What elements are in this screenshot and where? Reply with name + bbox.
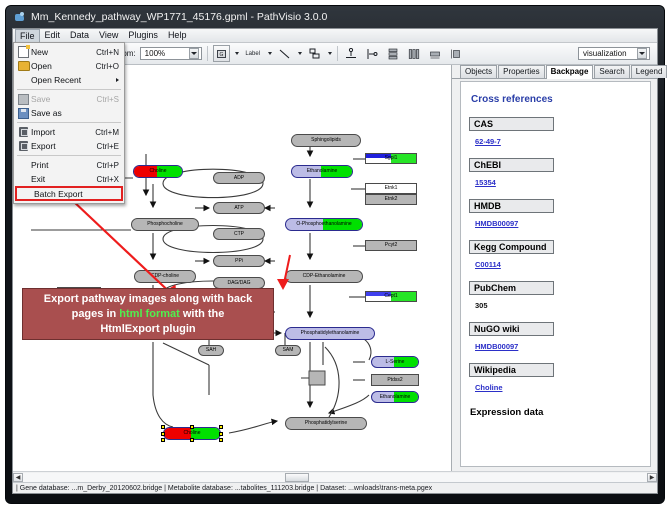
menu-separator (17, 89, 121, 90)
pathway-node[interactable]: SAH (198, 345, 224, 356)
gene-label: Sgpl1 (385, 156, 398, 161)
xref-value-row: Choline (469, 377, 650, 395)
callout-line1: Export pathway images along with back (44, 293, 252, 305)
title-bar[interactable]: Mm_Kennedy_pathway_WP1771_45176.gpml - P… (8, 8, 662, 26)
window-title: Mm_Kennedy_pathway_WP1771_45176.gpml - P… (31, 11, 327, 23)
xref-db-header: ChEBI (469, 158, 554, 172)
menu-item-accelerator: Ctrl+O (96, 62, 124, 71)
tab-objects[interactable]: Objects (460, 65, 497, 78)
xref-value-row: C00114 (469, 254, 650, 272)
menu-item-no-icon (16, 74, 31, 86)
xref-db-header: PubChem (469, 281, 554, 295)
xref-link[interactable]: Choline (475, 383, 503, 392)
shape-button[interactable] (306, 45, 323, 62)
callout-line2-pre: pages in (72, 308, 120, 320)
cross-reference-list: CAS62-49-7ChEBI15354HMDBHMDB00097Kegg Co… (469, 117, 650, 395)
datanode-button[interactable]: G (213, 45, 230, 62)
xref-value-row: 15354 (469, 172, 650, 190)
scroll-left-icon[interactable]: ◀ (13, 473, 23, 482)
submenu-arrow-icon (116, 78, 119, 82)
pathway-node[interactable]: Sphingolipids (291, 134, 361, 147)
pathway-node[interactable]: O-Phosphoethanolamine (285, 218, 363, 231)
menu-item-label: New (31, 47, 96, 57)
pathway-gene-box[interactable]: Pcyt2 (365, 240, 417, 251)
tab-properties[interactable]: Properties (498, 65, 544, 78)
xref-value-row: 62-49-7 (469, 131, 650, 149)
same-height-button[interactable] (448, 45, 465, 62)
pathway-node[interactable]: L-Serine (371, 356, 419, 368)
menu-item-export[interactable]: ExportCtrl+E (14, 139, 124, 153)
svg-text:G: G (219, 52, 223, 58)
menu-item-batch-export[interactable]: Batch Export (15, 186, 123, 201)
pathway-node[interactable]: Phosphocholine (131, 218, 199, 231)
pathway-gene-box[interactable]: Cept1 (365, 291, 417, 302)
pathway-node[interactable]: CTP (213, 228, 265, 240)
menu-item-label: Batch Export (34, 189, 116, 199)
shape-dropdown-icon[interactable] (328, 52, 332, 55)
menu-item-accelerator: Ctrl+N (96, 48, 124, 57)
line-dropdown-icon[interactable] (298, 52, 302, 55)
pathway-gene-box[interactable]: Etnk1 (365, 183, 417, 194)
distribute-button[interactable] (406, 45, 423, 62)
node-label: L-Serine (386, 360, 405, 365)
pathway-node[interactable]: CDP-Ethanolamine (285, 270, 363, 283)
xref-link[interactable]: 62-49-7 (475, 137, 501, 146)
xref-db-header: HMDB (469, 199, 554, 213)
menu-item-label: Open Recent (31, 75, 119, 85)
align-left-button[interactable] (364, 45, 381, 62)
pathway-node[interactable]: Ethanolamine (371, 391, 419, 403)
selection-handle[interactable] (190, 425, 194, 429)
pathway-node[interactable]: Ethanolamine (291, 165, 353, 178)
pathway-node[interactable]: ATP (213, 202, 265, 214)
gene-label: Cept1 (384, 294, 397, 299)
zoom-value: 100% (145, 49, 165, 58)
export-icon (16, 140, 31, 152)
pathway-node[interactable]: Choline (133, 165, 183, 178)
xref-db-header: Kegg Compound (469, 240, 554, 254)
align-top-button[interactable] (343, 45, 360, 62)
callout-line3: HtmlExport plugin (100, 323, 195, 335)
tab-search[interactable]: Search (594, 65, 629, 78)
menu-item-accelerator: Ctrl+P (97, 161, 124, 170)
status-text: | Gene database: ...m_Derby_20120602.bri… (16, 485, 432, 492)
xref-link[interactable]: HMDB00097 (475, 342, 518, 351)
menu-item-label: Export (31, 141, 97, 151)
pathway-node[interactable]: PPi (213, 255, 265, 267)
label-button[interactable]: Label (243, 45, 263, 62)
menu-separator (17, 122, 121, 123)
menu-edit[interactable]: Edit (40, 29, 66, 42)
callout-line2-highlight: html format (119, 308, 180, 320)
new-file-icon (16, 46, 31, 58)
node-label: DAG/DAG (227, 281, 250, 286)
status-bar: | Gene database: ...m_Derby_20120602.bri… (13, 482, 657, 493)
gene-label: Pcyt2 (385, 243, 398, 248)
save-as-icon (16, 107, 31, 119)
chevron-down-icon (189, 48, 199, 59)
xref-link[interactable]: 15354 (475, 178, 496, 187)
node-label: CTP (234, 232, 244, 237)
node-label: SAM (283, 348, 294, 353)
menu-item-label: Import (31, 127, 95, 137)
node-label: Phosphocholine (147, 222, 183, 227)
node-label: ADP (234, 176, 244, 181)
node-label: PPi (235, 259, 243, 264)
visualization-value: visualization (583, 49, 627, 58)
gene-label: Etnk2 (385, 197, 398, 202)
screenshot-root: Mm_Kennedy_pathway_WP1771_45176.gpml - P… (0, 0, 670, 509)
node-label: Choline (184, 431, 201, 436)
menu-help[interactable]: Help (163, 29, 192, 42)
pathway-node[interactable]: Phosphatidylethanolamine (285, 327, 375, 340)
pathway-node[interactable]: SAM (275, 345, 301, 356)
menu-view[interactable]: View (94, 29, 123, 42)
pathway-node[interactable]: CDP-choline (134, 270, 196, 283)
menu-item-accelerator: Ctrl+M (95, 128, 124, 137)
menu-item-no-icon (16, 173, 31, 185)
menu-item-label: Save as (31, 108, 119, 118)
node-label: O-Phosphoethanolamine (296, 222, 351, 227)
node-label: Phosphatidylserine (305, 421, 347, 426)
side-panel-tabs: Objects Properties Backpage Search Legen… (452, 65, 657, 79)
tab-backpage[interactable]: Backpage (546, 65, 594, 79)
open-folder-icon (16, 60, 31, 72)
chevron-down-icon (637, 48, 647, 59)
xref-db-header: NuGO wiki (469, 322, 554, 336)
expression-data-title: Expression data (470, 407, 650, 418)
zoom-combobox[interactable]: 100% (140, 47, 202, 60)
selection-handle[interactable] (219, 425, 223, 429)
menu-item-accelerator: Ctrl+S (97, 95, 124, 104)
menu-file[interactable]: File (15, 29, 40, 42)
node-label: CDP-Ethanolamine (303, 274, 346, 279)
menu-item-open-recent[interactable]: Open Recent (14, 73, 124, 87)
xref-link[interactable]: HMDB00097 (475, 219, 518, 228)
menu-item-label: Save (31, 94, 97, 104)
label-dropdown-icon[interactable] (268, 52, 272, 55)
menu-item-import[interactable]: ImportCtrl+M (14, 125, 124, 139)
xref-value-row: 305 (469, 295, 650, 313)
gene-label: Etnk1 (385, 186, 398, 191)
datanode-dropdown-icon[interactable] (235, 52, 239, 55)
node-label: Choline (150, 169, 167, 174)
selection-handle[interactable] (161, 432, 165, 436)
menu-item-save-as[interactable]: Save as (14, 106, 124, 120)
xref-value-row: HMDB00097 (469, 336, 650, 354)
pathway-node[interactable]: Ptdss2 (371, 374, 419, 386)
menu-item-accelerator: Ctrl+E (97, 142, 124, 151)
selection-handle[interactable] (219, 438, 223, 442)
tab-legend[interactable]: Legend (631, 65, 668, 78)
menu-item-label: Exit (31, 174, 97, 184)
menu-item-save: SaveCtrl+S (14, 92, 124, 106)
pathvisio-icon (14, 11, 26, 23)
menu-separator (17, 155, 121, 156)
menu-bar: File Edit Data View Plugins Help (13, 29, 657, 43)
side-panel: Objects Properties Backpage Search Legen… (452, 65, 657, 471)
menu-plugins[interactable]: Plugins (123, 29, 163, 42)
save-icon (16, 93, 31, 105)
scroll-track[interactable] (23, 473, 647, 482)
node-label: SAH (206, 348, 216, 353)
toolbar-separator (337, 46, 338, 61)
scroll-thumb[interactable] (285, 473, 309, 482)
menu-item-label: Open (31, 61, 96, 71)
node-label: CDP-choline (151, 274, 179, 279)
menu-item-label: Print (31, 160, 97, 170)
xref-link[interactable]: C00114 (475, 260, 501, 269)
selection-handle[interactable] (161, 425, 165, 429)
menu-item-no-icon (19, 188, 34, 200)
toolbar-separator (207, 46, 208, 61)
node-label: Phosphatidylethanolamine (301, 331, 360, 336)
menu-data[interactable]: Data (65, 29, 94, 42)
node-label: Ptdss2 (387, 378, 402, 383)
xref-value: 305 (475, 301, 488, 310)
horizontal-scrollbar[interactable]: ◀ ▶ (13, 471, 657, 482)
annotation-callout: Export pathway images along with back pa… (22, 288, 274, 340)
selection-handle[interactable] (219, 432, 223, 436)
node-label: Ethanolamine (380, 395, 411, 400)
scroll-right-icon[interactable]: ▶ (647, 473, 657, 482)
file-menu-popup[interactable]: NewCtrl+NOpenCtrl+OOpen RecentSaveCtrl+S… (13, 42, 125, 204)
xref-value-row: HMDB00097 (469, 213, 650, 231)
cross-references-title: Cross references (471, 94, 650, 105)
xref-db-header: Wikipedia (469, 363, 554, 377)
menu-item-new[interactable]: NewCtrl+N (14, 45, 124, 59)
selection-handle[interactable] (190, 438, 194, 442)
pathway-node[interactable]: ADP (213, 172, 265, 184)
stack-button[interactable] (385, 45, 402, 62)
visualization-combobox[interactable]: visualization (578, 47, 650, 60)
menu-item-open[interactable]: OpenCtrl+O (14, 59, 124, 73)
callout-line2-post: with the (180, 308, 225, 320)
xref-db-header: CAS (469, 117, 554, 131)
line-button[interactable] (276, 45, 293, 62)
node-label: Sphingolipids (311, 138, 341, 143)
menu-item-accelerator: Ctrl+X (97, 175, 124, 184)
menu-item-no-icon (16, 159, 31, 171)
backpage-content: Cross references CAS62-49-7ChEBI15354HMD… (460, 81, 651, 467)
menu-item-print[interactable]: PrintCtrl+P (14, 158, 124, 172)
menu-item-exit[interactable]: ExitCtrl+X (14, 172, 124, 186)
pathway-gene-box[interactable]: Etnk2 (365, 194, 417, 205)
node-label: ATP (234, 206, 243, 211)
selection-handle[interactable] (161, 438, 165, 442)
pathway-gene-box[interactable]: Sgpl1 (365, 153, 417, 164)
import-icon (16, 126, 31, 138)
pathway-node[interactable]: Phosphatidylserine (285, 417, 367, 430)
same-width-button[interactable] (427, 45, 444, 62)
node-label: Ethanolamine (307, 169, 338, 174)
